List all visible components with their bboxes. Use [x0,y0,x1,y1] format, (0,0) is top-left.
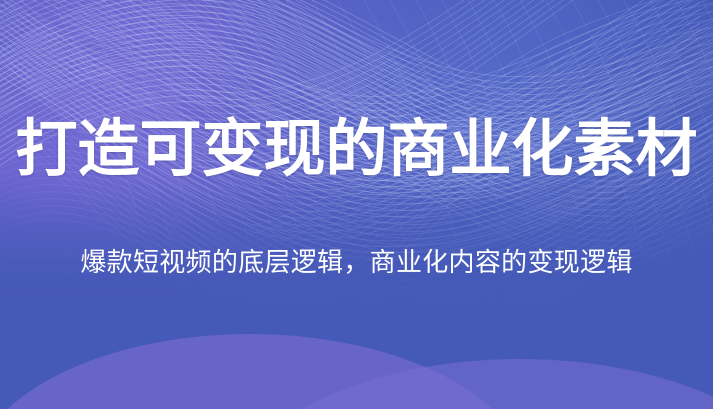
page-subtitle: 爆款短视频的底层逻辑，商业化内容的变现逻辑 [0,248,713,279]
subtitle-block: 爆款短视频的底层逻辑，商业化内容的变现逻辑 [0,248,713,279]
page-title: 打造可变现的商业化素材 [0,118,713,180]
bottom-arc-shapes [0,269,713,409]
course-cover-banner: 打造可变现的商业化素材 爆款短视频的底层逻辑，商业化内容的变现逻辑 [0,0,713,409]
title-block: 打造可变现的商业化素材 [0,118,713,180]
